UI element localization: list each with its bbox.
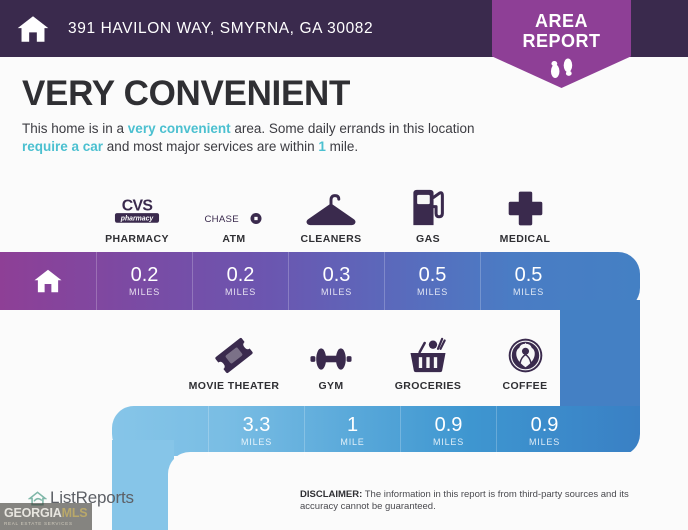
distance-unit: MILES: [433, 437, 464, 447]
distance-unit: MILES: [241, 437, 272, 447]
distance-bar-secondary: 3.3 MILES 1 MILE 0.9 MILES 0.9 MILES: [112, 406, 640, 456]
distance-value: 0.9: [531, 415, 559, 436]
distance-unit: MILES: [513, 287, 544, 297]
page-title: VERY CONVENIENT: [22, 74, 350, 114]
icon-label: MEDICAL: [477, 233, 573, 245]
distance-cell-atm: 0.2 MILES: [192, 252, 288, 310]
icon-cell-gym: GYM: [283, 330, 379, 392]
disclaimer-label: DISCLAIMER:: [300, 489, 362, 500]
clothes-hanger-icon: [283, 183, 379, 227]
icon-cell-groceries: GROCERIES: [380, 330, 476, 392]
icon-label: GROCERIES: [380, 380, 476, 392]
cvs-pharmacy-logo: CVS pharmacy: [89, 183, 185, 227]
svg-text:CVS: CVS: [122, 197, 153, 214]
gas-pump-icon: [380, 183, 476, 227]
distance-cell-cleaners: 0.3 MILES: [288, 252, 384, 310]
movie-ticket-icon: [186, 330, 282, 374]
summary-highlight-2: require a car: [22, 139, 103, 154]
starbucks-logo: [477, 330, 573, 374]
grocery-basket-icon: [380, 330, 476, 374]
svg-text:pharmacy: pharmacy: [120, 215, 155, 222]
distance-bar-primary: 0.2 MILES 0.2 MILES 0.3 MILES 0.5 MILES …: [0, 252, 640, 310]
dumbbell-icon: [283, 330, 379, 374]
mls-mls-text: MLS: [62, 506, 88, 520]
georgia-mls-watermark: GEORGIAMLS REAL ESTATE SERVICES: [0, 503, 92, 530]
distance-cell-coffee: 0.9 MILES: [496, 406, 592, 456]
distance-value: 0.9: [435, 415, 463, 436]
mls-tagline: REAL ESTATE SERVICES: [4, 521, 92, 526]
property-address: 391 HAVILON WAY, SMYRNA, GA 30082: [68, 20, 373, 38]
home-icon: [33, 266, 63, 296]
badge-line-1: AREA: [492, 0, 631, 31]
distance-unit: MILES: [321, 287, 352, 297]
icon-cell-movie-theater: MOVIE THEATER: [186, 330, 282, 392]
icon-label: CLEANERS: [283, 233, 379, 245]
icon-cell-atm: CHASE ATM: [186, 183, 282, 245]
bar-lead-secondary: [112, 406, 208, 456]
svg-text:CHASE: CHASE: [204, 214, 238, 225]
footprints-icon: [545, 54, 579, 80]
icon-cell-gas: GAS: [380, 183, 476, 245]
distance-value: 0.5: [419, 265, 447, 286]
distance-cell-groceries: 0.9 MILES: [400, 406, 496, 456]
summary-highlight-1: very convenient: [128, 121, 231, 136]
icon-label: MOVIE THEATER: [186, 380, 282, 392]
distance-cell-medical: 0.5 MILES: [480, 252, 576, 310]
distance-unit: MILES: [417, 287, 448, 297]
bar-home-cell: [0, 252, 96, 310]
chase-bank-logo: CHASE: [186, 183, 282, 227]
distance-value: 0.3: [323, 265, 351, 286]
medical-cross-icon: [477, 183, 573, 227]
bar-tail-secondary: [592, 406, 640, 456]
summary-part-1: This home is in a: [22, 121, 128, 136]
area-report-page: 391 HAVILON WAY, SMYRNA, GA 30082 AREA R…: [0, 0, 688, 530]
icon-cell-medical: MEDICAL: [477, 183, 573, 245]
distance-cell-pharmacy: 0.2 MILES: [96, 252, 192, 310]
summary-text: This home is in a very convenient area. …: [22, 120, 492, 156]
distance-value: 0.5: [515, 265, 543, 286]
distance-unit: MILE: [340, 437, 364, 447]
distance-cell-movie-theater: 3.3 MILES: [208, 406, 304, 456]
georgia-mls-title: GEORGIAMLS: [4, 507, 92, 520]
summary-part-3: and most major services are within: [103, 139, 318, 154]
icon-label: COFFEE: [477, 380, 573, 392]
distance-unit: MILES: [529, 437, 560, 447]
area-report-badge: AREA REPORT: [492, 0, 631, 88]
distance-value: 0.2: [227, 265, 255, 286]
icon-cell-coffee: COFFEE: [477, 330, 573, 392]
mls-georgia-text: GEORGIA: [4, 506, 62, 520]
icon-label: GYM: [283, 380, 379, 392]
distance-unit: MILES: [129, 287, 160, 297]
distance-value: 0.2: [131, 265, 159, 286]
icon-label: ATM: [186, 233, 282, 245]
distance-cell-gym: 1 MILE: [304, 406, 400, 456]
disclaimer: DISCLAIMER: The information in this repo…: [300, 489, 660, 513]
distance-unit: MILES: [225, 287, 256, 297]
summary-part-4: mile.: [326, 139, 358, 154]
distance-value: 3.3: [243, 415, 271, 436]
summary-part-2: area. Some daily errands in this locatio…: [231, 121, 475, 136]
distance-value: 1: [347, 415, 358, 436]
distance-cell-gas: 0.5 MILES: [384, 252, 480, 310]
icon-label: PHARMACY: [89, 233, 185, 245]
home-icon: [16, 12, 50, 46]
icon-cell-pharmacy: CVS pharmacy PHARMACY: [89, 183, 185, 245]
badge-line-2: REPORT: [492, 31, 631, 51]
summary-highlight-3: 1: [318, 139, 326, 154]
icon-label: GAS: [380, 233, 476, 245]
icon-cell-cleaners: CLEANERS: [283, 183, 379, 245]
